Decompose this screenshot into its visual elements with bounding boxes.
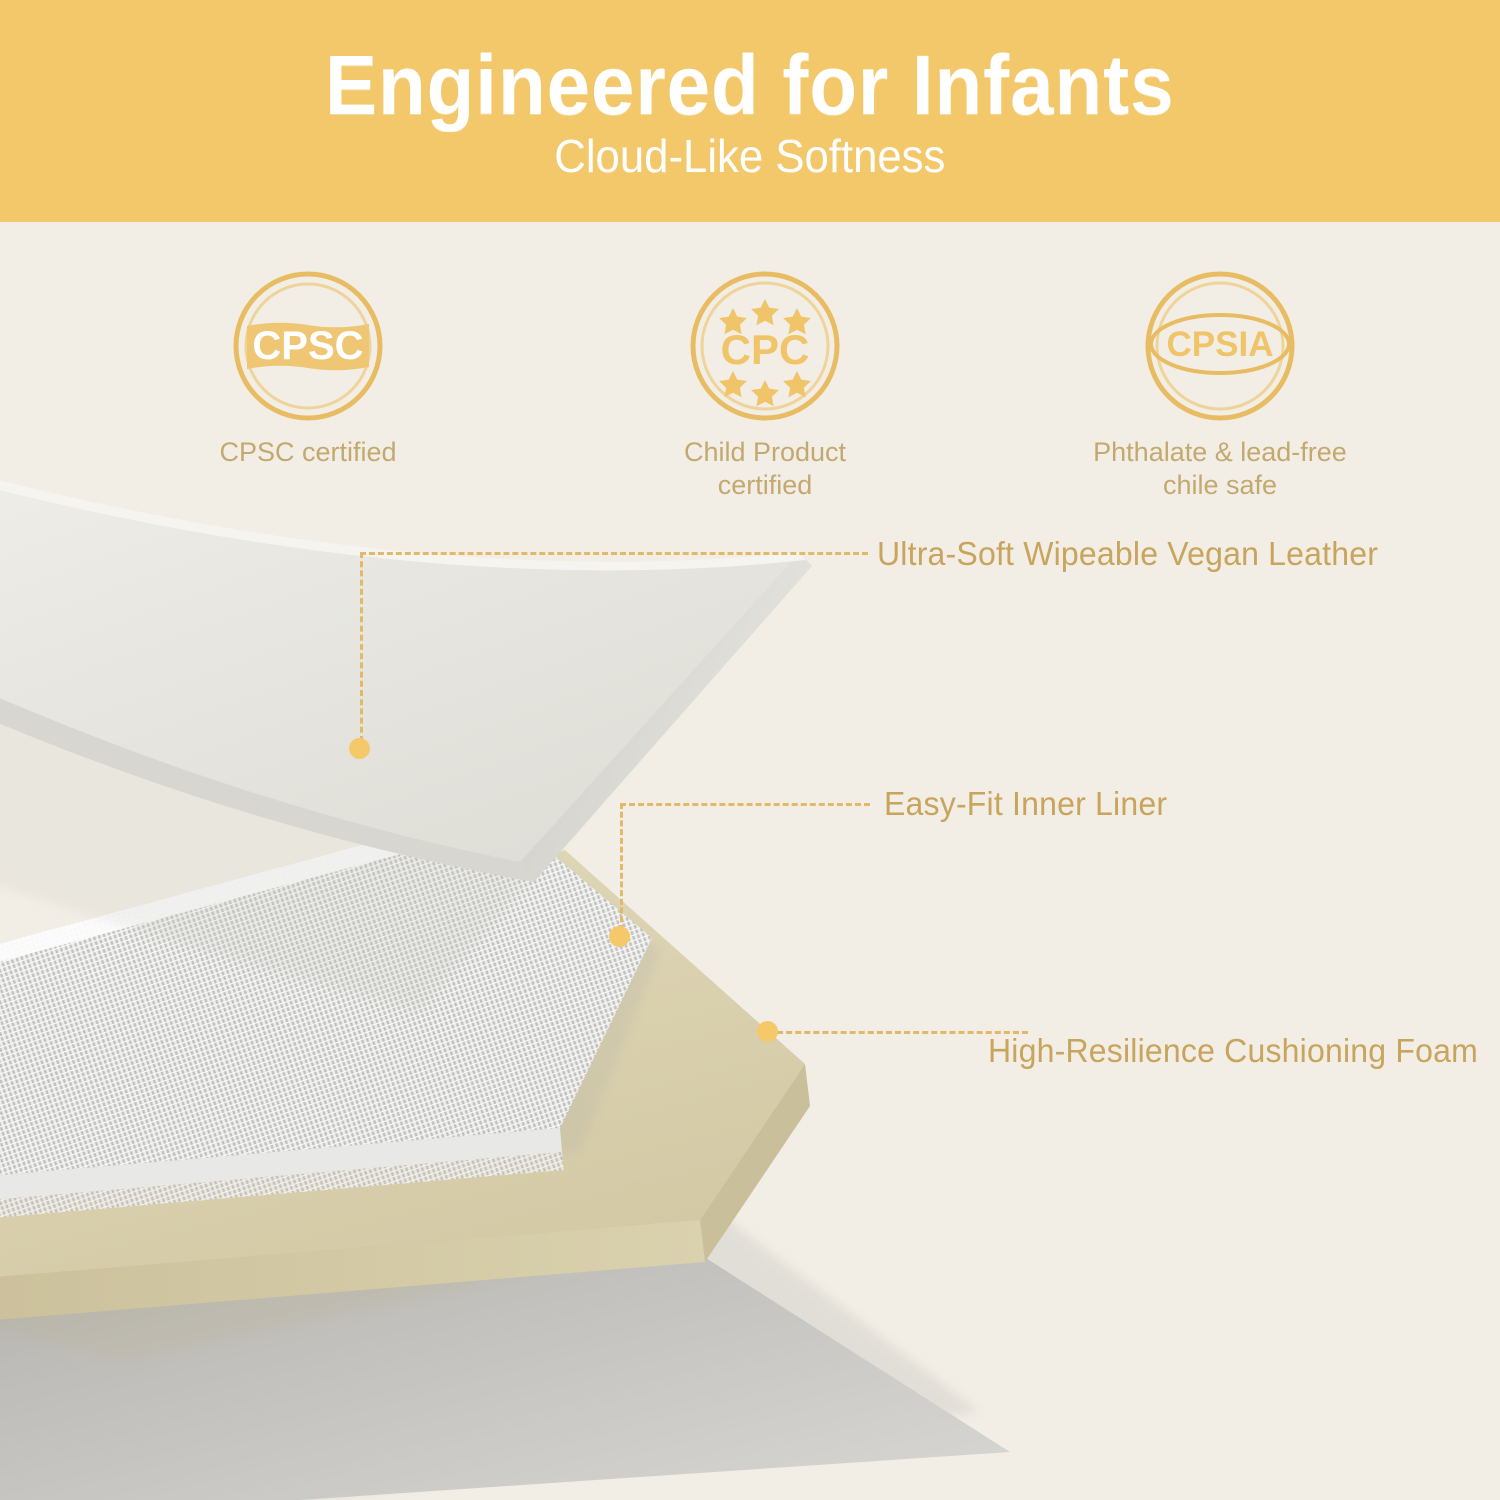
leader-vertical-segment <box>620 803 623 931</box>
header-banner: Engineered for Infants Cloud-Like Softne… <box>0 0 1500 222</box>
leader-horizontal-segment <box>360 552 868 555</box>
infographic-page: Engineered for Infants Cloud-Like Softne… <box>0 0 1500 1500</box>
callout-label-liner: Easy-Fit Inner Liner <box>884 785 1167 823</box>
leader-endpoint-dot <box>609 926 630 947</box>
leader-endpoint-dot <box>349 738 370 759</box>
page-subtitle: Cloud-Like Softness <box>554 133 945 179</box>
exploded-layers-illustration <box>0 222 1500 1500</box>
callout-label-cover: Ultra-Soft Wipeable Vegan Leather <box>877 535 1378 573</box>
top-cover-layer <box>0 392 812 1012</box>
leader-endpoint-dot <box>757 1021 778 1042</box>
callout-label-foam: High-Resilience Cushioning Foam <box>988 1032 1478 1070</box>
leader-horizontal-segment <box>620 803 870 806</box>
leader-vertical-segment <box>360 552 363 742</box>
page-title: Engineered for Infants <box>325 43 1174 127</box>
